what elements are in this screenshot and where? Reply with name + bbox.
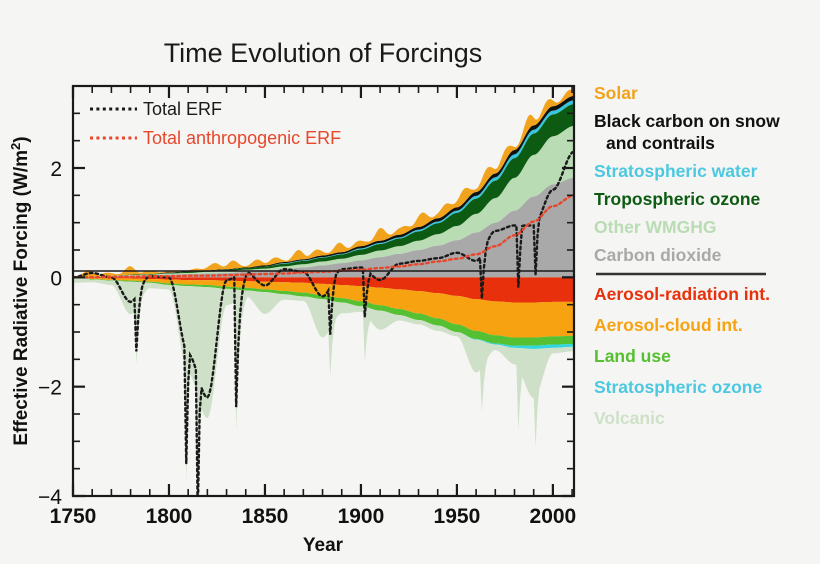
legend-item-solar: Solar <box>594 83 638 103</box>
legend-item-aerosol-radiation-int: Aerosol-radiation int. <box>594 284 770 304</box>
legend-item-aerosol-cloud-int: Aerosol-cloud int. <box>594 315 743 335</box>
x-tick-label: 2000 <box>530 505 577 528</box>
legend-item-black-carbon-on-snow: Black carbon on snow <box>594 111 780 131</box>
x-tick-label: 1800 <box>146 505 193 528</box>
page-title: Time Evolution of Forcings <box>164 38 483 68</box>
y-tick-label: 0 <box>50 267 62 290</box>
y-tick-label: 2 <box>50 158 62 181</box>
forcings-figure: Time Evolution of Forcings Effective Rad… <box>0 0 820 564</box>
legend-item-stratospheric-water: Stratospheric water <box>594 161 758 181</box>
y-axis-label: Effective Radiative Forcing (W/m2) <box>8 136 33 445</box>
inline-legend-label: Total anthropogenic ERF <box>143 128 341 148</box>
legend-item-other-wmghg: Other WMGHG <box>594 217 717 237</box>
x-axis-label: Year <box>303 535 344 556</box>
x-tick-label: 1950 <box>434 505 481 528</box>
x-tick-label: 1900 <box>338 505 385 528</box>
legend-item-land-use: Land use <box>594 346 671 366</box>
inline-legend-label: Total ERF <box>143 99 222 119</box>
legend-item-stratospheric-ozone: Stratospheric ozone <box>594 377 762 397</box>
y-tick-label: −4 <box>38 486 62 509</box>
legend-item-carbon-dioxide: Carbon dioxide <box>594 245 722 265</box>
y-tick-label: −2 <box>38 377 62 400</box>
legend-item-volcanic: Volcanic <box>594 408 665 428</box>
x-tick-label: 1850 <box>242 505 289 528</box>
legend-item-tropospheric-ozone: Tropospheric ozone <box>594 189 761 209</box>
legend-item-and-contrails: and contrails <box>606 133 715 153</box>
